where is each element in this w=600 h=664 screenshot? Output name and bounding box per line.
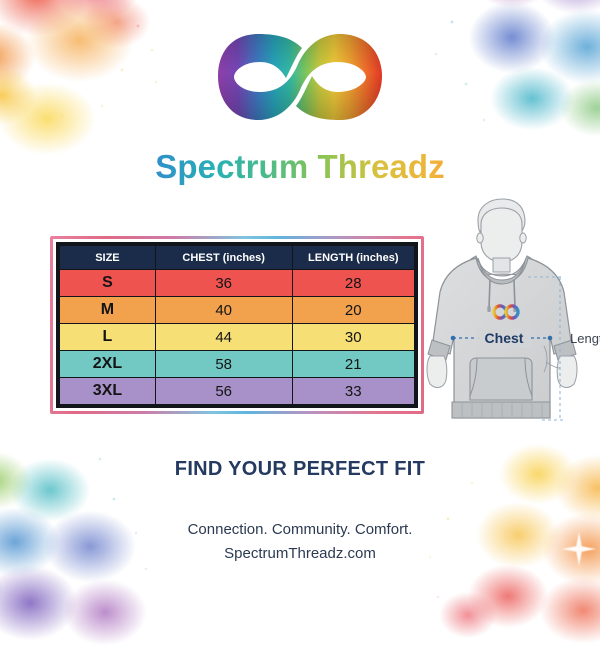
column-header-length: LENGTH (inches): [292, 246, 414, 270]
cell-size: 3XL: [60, 378, 156, 405]
cell-chest: 36: [155, 270, 292, 297]
cell-size: M: [60, 297, 156, 324]
cell-size: L: [60, 324, 156, 351]
size-chart: SIZE CHEST (inches) LENGTH (inches) S 36…: [50, 236, 424, 414]
website-url: SpectrumThreadz.com: [0, 545, 600, 562]
column-header-chest: CHEST (inches): [155, 246, 292, 270]
table-row: M 40 20: [60, 297, 415, 324]
head-icon: [481, 208, 522, 262]
size-chart-table: SIZE CHEST (inches) LENGTH (inches) S 36…: [59, 245, 415, 405]
cell-chest: 56: [155, 378, 292, 405]
column-header-size: SIZE: [60, 246, 156, 270]
cell-length: 21: [292, 351, 414, 378]
drawstring-right-icon: [514, 280, 515, 308]
cell-chest: 44: [155, 324, 292, 351]
table-row: 2XL 58 21: [60, 351, 415, 378]
table-row: 3XL 56 33: [60, 378, 415, 405]
length-label: Length: [570, 331, 600, 346]
hand-left-icon: [427, 356, 447, 387]
drawstring-left-icon: [489, 280, 490, 308]
table-header-row: SIZE CHEST (inches) LENGTH (inches): [60, 246, 415, 270]
hand-right-icon: [557, 356, 577, 387]
table-row: L 44 30: [60, 324, 415, 351]
tagline: FIND YOUR PERFECT FIT: [0, 458, 600, 481]
brand-logo: [0, 22, 600, 134]
pocket-icon: [470, 358, 532, 400]
cell-chest: 40: [155, 297, 292, 324]
cell-size: 2XL: [60, 351, 156, 378]
hoodie-illustration: Chest Length: [424, 196, 600, 446]
size-guide-poster: Spectrum Threadz SIZE CHEST (inches) LEN…: [0, 0, 600, 600]
cell-length: 30: [292, 324, 414, 351]
chest-label: Chest: [485, 330, 524, 346]
cell-chest: 58: [155, 351, 292, 378]
table-row: S 36 28: [60, 270, 415, 297]
cell-length: 33: [292, 378, 414, 405]
cell-size: S: [60, 270, 156, 297]
cell-length: 28: [292, 270, 414, 297]
page-title: Spectrum Threadz: [0, 148, 600, 186]
waistband-icon: [452, 402, 550, 418]
cell-length: 20: [292, 297, 414, 324]
rainbow-infinity-icon: [214, 26, 386, 130]
values-line: Connection. Community. Comfort.: [0, 521, 600, 538]
